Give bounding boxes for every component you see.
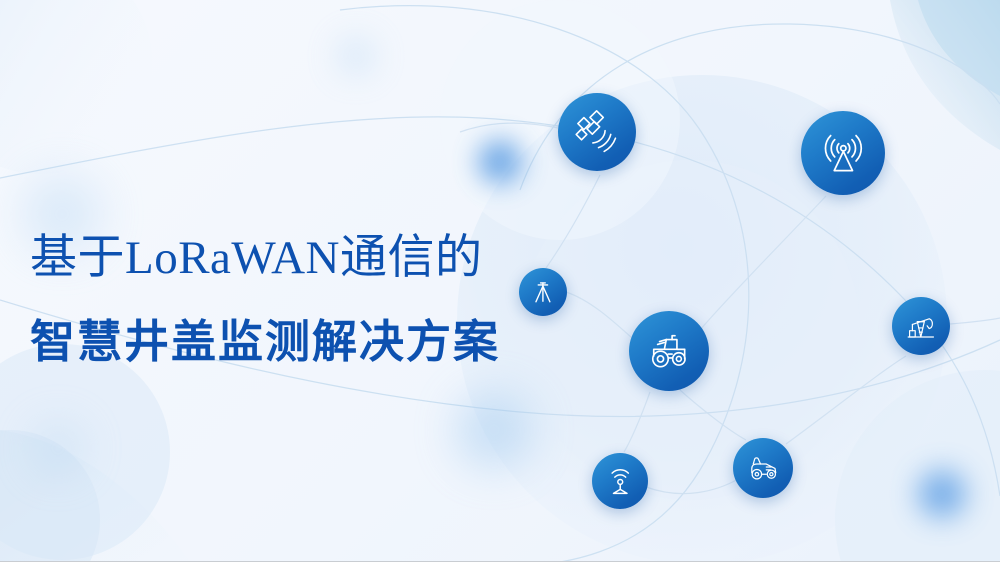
wireless-sensor-icon <box>604 465 636 497</box>
satellite-icon <box>574 109 619 154</box>
edge-pumpjack-right <box>950 318 1000 324</box>
tractor-icon <box>646 328 692 374</box>
title-line-primary: 基于LoRaWAN通信的 <box>30 226 500 290</box>
radio-tower-icon <box>819 129 868 178</box>
oil-pumpjack-icon <box>904 309 938 343</box>
node-tractor <box>629 311 709 391</box>
survey-tripod-icon <box>529 278 557 306</box>
node-oil-pumpjack <box>892 297 950 355</box>
node-wireless-sensor <box>592 453 648 509</box>
soft-circle-top-left <box>0 0 152 174</box>
slide-title: 基于LoRaWAN通信的 智慧井盖监测解决方案 <box>30 226 500 374</box>
node-robot-mower <box>733 438 793 498</box>
title-line-secondary: 智慧井盖监测解决方案 <box>30 310 500 374</box>
robot-mower-icon <box>746 451 781 486</box>
node-survey-tripod <box>519 268 567 316</box>
presentation-cover-slide: 基于LoRaWAN通信的 智慧井盖监测解决方案 <box>0 0 1000 562</box>
node-satellite <box>558 93 636 171</box>
node-radio-tower <box>801 111 885 195</box>
